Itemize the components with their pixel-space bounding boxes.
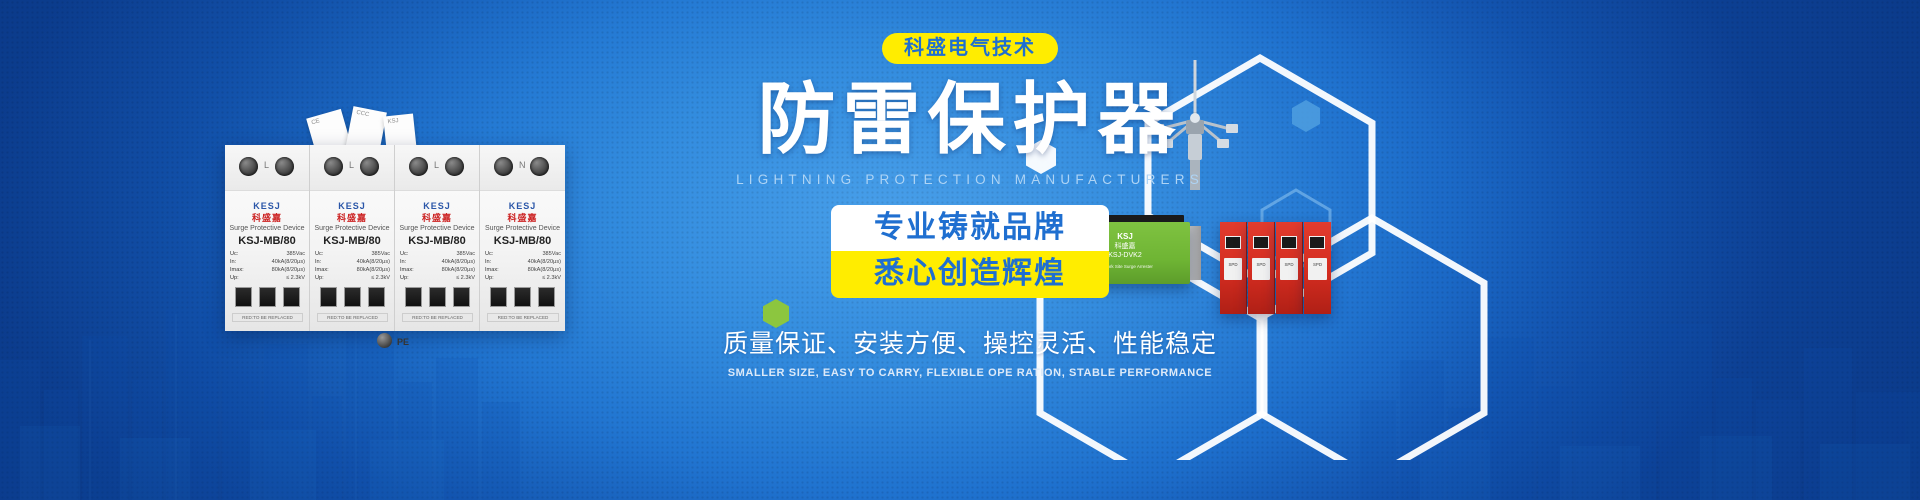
spec-label: Up: <box>230 275 239 281</box>
spec-row: Imax: 80kA(8/20μs) <box>485 267 561 273</box>
spec-label: Imax: <box>485 267 499 273</box>
spec-row: In: 40kA(8/20μs) <box>485 259 561 265</box>
product-left-group: CE CCC KSJ L KESJ 科盛嘉 Surge Protective D… <box>225 115 565 340</box>
spec-row: Uc: 385Vac <box>315 251 390 257</box>
spec-label: Uc: <box>315 251 323 257</box>
spec-row: Uc: 385Vac <box>230 251 305 257</box>
terminal-label: L <box>434 160 439 170</box>
spec-label: Up: <box>485 275 494 281</box>
spec-value: 80kA(8/20μs) <box>357 267 390 273</box>
terminal-screw <box>324 157 343 176</box>
replace-indicator-label: RED:TO BE REPLACED <box>233 314 302 321</box>
spec-value: 40kA(8/20μs) <box>442 259 475 265</box>
spec-row: In: 40kA(8/20μs) <box>230 259 305 265</box>
spec-value: ≤ 2.3kV <box>286 275 305 281</box>
spec-row: Up: ≤ 2.3kV <box>230 275 305 281</box>
banner-root: CE CCC KSJ L KESJ 科盛嘉 Surge Protective D… <box>0 0 1920 500</box>
device-model-label: KSJ-MB/80 <box>480 235 565 247</box>
terminal-screw <box>445 157 464 176</box>
banner-headline: 防雷保护器 <box>600 80 1340 158</box>
spec-value: 80kA(8/20μs) <box>442 267 475 273</box>
terminal-label: N <box>519 160 526 170</box>
terminal-label: L <box>264 160 269 170</box>
spec-row: Up: ≤ 2.3kV <box>485 275 561 281</box>
spec-row: Uc: 385Vac <box>485 251 561 257</box>
status-window <box>514 287 531 307</box>
terminal-screw <box>530 157 549 176</box>
spec-label: In: <box>315 259 321 265</box>
spec-label: Uc: <box>485 251 493 257</box>
city-skyline-right <box>1360 250 1920 500</box>
spec-value: 385Vac <box>286 251 305 257</box>
spec-value: 80kA(8/20μs) <box>528 267 561 273</box>
status-window <box>453 287 470 307</box>
status-window <box>538 287 555 307</box>
spec-label: Imax: <box>400 267 414 273</box>
spec-label: In: <box>485 259 491 265</box>
brand-latin: KESJ <box>225 201 309 211</box>
feature-list-en: SMALLER SIZE, EASY TO CARRY, FLEXIBLE OP… <box>600 367 1340 379</box>
spec-value: 40kA(8/20μs) <box>528 259 561 265</box>
slogan-top: 专业铸就品牌 <box>831 205 1109 251</box>
status-window <box>320 287 337 307</box>
spd-module: N KESJ 科盛嘉 Surge Protective Device KSJ-M… <box>480 145 565 331</box>
status-window <box>429 287 446 307</box>
spd-module: L KESJ 科盛嘉 Surge Protective Device KSJ-M… <box>225 145 310 331</box>
spec-row: Imax: 80kA(8/20μs) <box>230 267 305 273</box>
status-window <box>490 287 507 307</box>
replace-indicator: RED:TO BE REPLACED <box>317 313 388 322</box>
replace-indicator-label: RED:TO BE REPLACED <box>488 314 558 321</box>
slogan-block: 专业铸就品牌 悉心创造辉煌 <box>831 205 1109 298</box>
spec-label: In: <box>230 259 236 265</box>
spec-row: In: 40kA(8/20μs) <box>315 259 390 265</box>
spec-row: Up: ≤ 2.3kV <box>400 275 475 281</box>
device-type-label: Surge Protective Device <box>395 225 479 232</box>
module-brand: KESJ 科盛嘉 <box>225 201 309 224</box>
device-model-label: KSJ-MB/80 <box>225 235 309 247</box>
spec-row: Imax: 80kA(8/20μs) <box>315 267 390 273</box>
spec-label: Uc: <box>230 251 238 257</box>
brand-latin: KESJ <box>310 201 394 211</box>
spec-label: Imax: <box>230 267 244 273</box>
terminal-screw <box>494 157 513 176</box>
terminal-screw <box>239 157 258 176</box>
spec-row: Uc: 385Vac <box>400 251 475 257</box>
spec-label: In: <box>400 259 406 265</box>
slogan-bottom: 悉心创造辉煌 <box>831 251 1109 297</box>
status-window <box>259 287 276 307</box>
hang-tag-label: CCC <box>356 110 370 118</box>
status-window <box>235 287 252 307</box>
terminal-label: L <box>349 160 354 170</box>
spec-value: 40kA(8/20μs) <box>357 259 390 265</box>
hang-tag-label: CE <box>311 118 321 126</box>
device-type-label: Surge Protective Device <box>310 225 394 232</box>
terminal-screw <box>409 157 428 176</box>
replace-indicator: RED:TO BE REPLACED <box>402 313 473 322</box>
terminal-screw <box>275 157 294 176</box>
spec-value: 385Vac <box>371 251 390 257</box>
company-badge: 科盛电气技术 <box>882 33 1058 64</box>
replace-indicator-label: RED:TO BE REPLACED <box>318 314 387 321</box>
brand-cn: 科盛嘉 <box>395 211 479 224</box>
replace-indicator: RED:TO BE REPLACED <box>232 313 303 322</box>
spec-value: ≤ 2.3kV <box>371 275 390 281</box>
spec-row: Up: ≤ 2.3kV <box>315 275 390 281</box>
replace-indicator: RED:TO BE REPLACED <box>487 313 559 322</box>
brand-latin: KESJ <box>395 201 479 211</box>
brand-latin: KESJ <box>480 201 565 211</box>
hang-tag-label: KSJ <box>387 118 399 125</box>
pe-ground-label: PE <box>397 337 409 347</box>
module-brand: KESJ 科盛嘉 <box>395 201 479 224</box>
module-brand: KESJ 科盛嘉 <box>480 201 565 224</box>
pe-screw <box>377 333 392 348</box>
din-rail-assembly: L KESJ 科盛嘉 Surge Protective Device KSJ-M… <box>225 145 565 331</box>
feature-list-cn: 质量保证、安装方便、操控灵活、性能稳定 <box>600 324 1340 360</box>
spec-value: 80kA(8/20μs) <box>272 267 305 273</box>
spec-label: Imax: <box>315 267 329 273</box>
device-model-label: KSJ-MB/80 <box>310 235 394 247</box>
banner-subtitle-en: LIGHTNING PROTECTION MANUFACTURERS <box>600 172 1340 187</box>
spec-value: ≤ 2.3kV <box>542 275 561 281</box>
status-window <box>344 287 361 307</box>
spec-value: 385Vac <box>542 251 561 257</box>
device-model-label: KSJ-MB/80 <box>395 235 479 247</box>
banner-text-column: 科盛电气技术 防雷保护器 LIGHTNING PROTECTION MANUFA… <box>600 0 1340 500</box>
brand-cn: 科盛嘉 <box>225 211 309 224</box>
spec-label: Up: <box>315 275 324 281</box>
status-window <box>283 287 300 307</box>
device-type-label: Surge Protective Device <box>480 225 565 232</box>
spd-module: L KESJ 科盛嘉 Surge Protective Device KSJ-M… <box>395 145 480 331</box>
terminal-screw <box>360 157 379 176</box>
spec-label: Uc: <box>400 251 408 257</box>
spec-label: Up: <box>400 275 409 281</box>
spec-value: 40kA(8/20μs) <box>272 259 305 265</box>
spec-row: In: 40kA(8/20μs) <box>400 259 475 265</box>
status-window <box>368 287 385 307</box>
brand-cn: 科盛嘉 <box>480 211 565 224</box>
brand-cn: 科盛嘉 <box>310 211 394 224</box>
device-type-label: Surge Protective Device <box>225 225 309 232</box>
module-brand: KESJ 科盛嘉 <box>310 201 394 224</box>
replace-indicator-label: RED:TO BE REPLACED <box>403 314 472 321</box>
spd-module: L KESJ 科盛嘉 Surge Protective Device KSJ-M… <box>310 145 395 331</box>
spec-row: Imax: 80kA(8/20μs) <box>400 267 475 273</box>
spec-value: ≤ 2.3kV <box>456 275 475 281</box>
status-window <box>405 287 422 307</box>
spec-value: 385Vac <box>456 251 475 257</box>
